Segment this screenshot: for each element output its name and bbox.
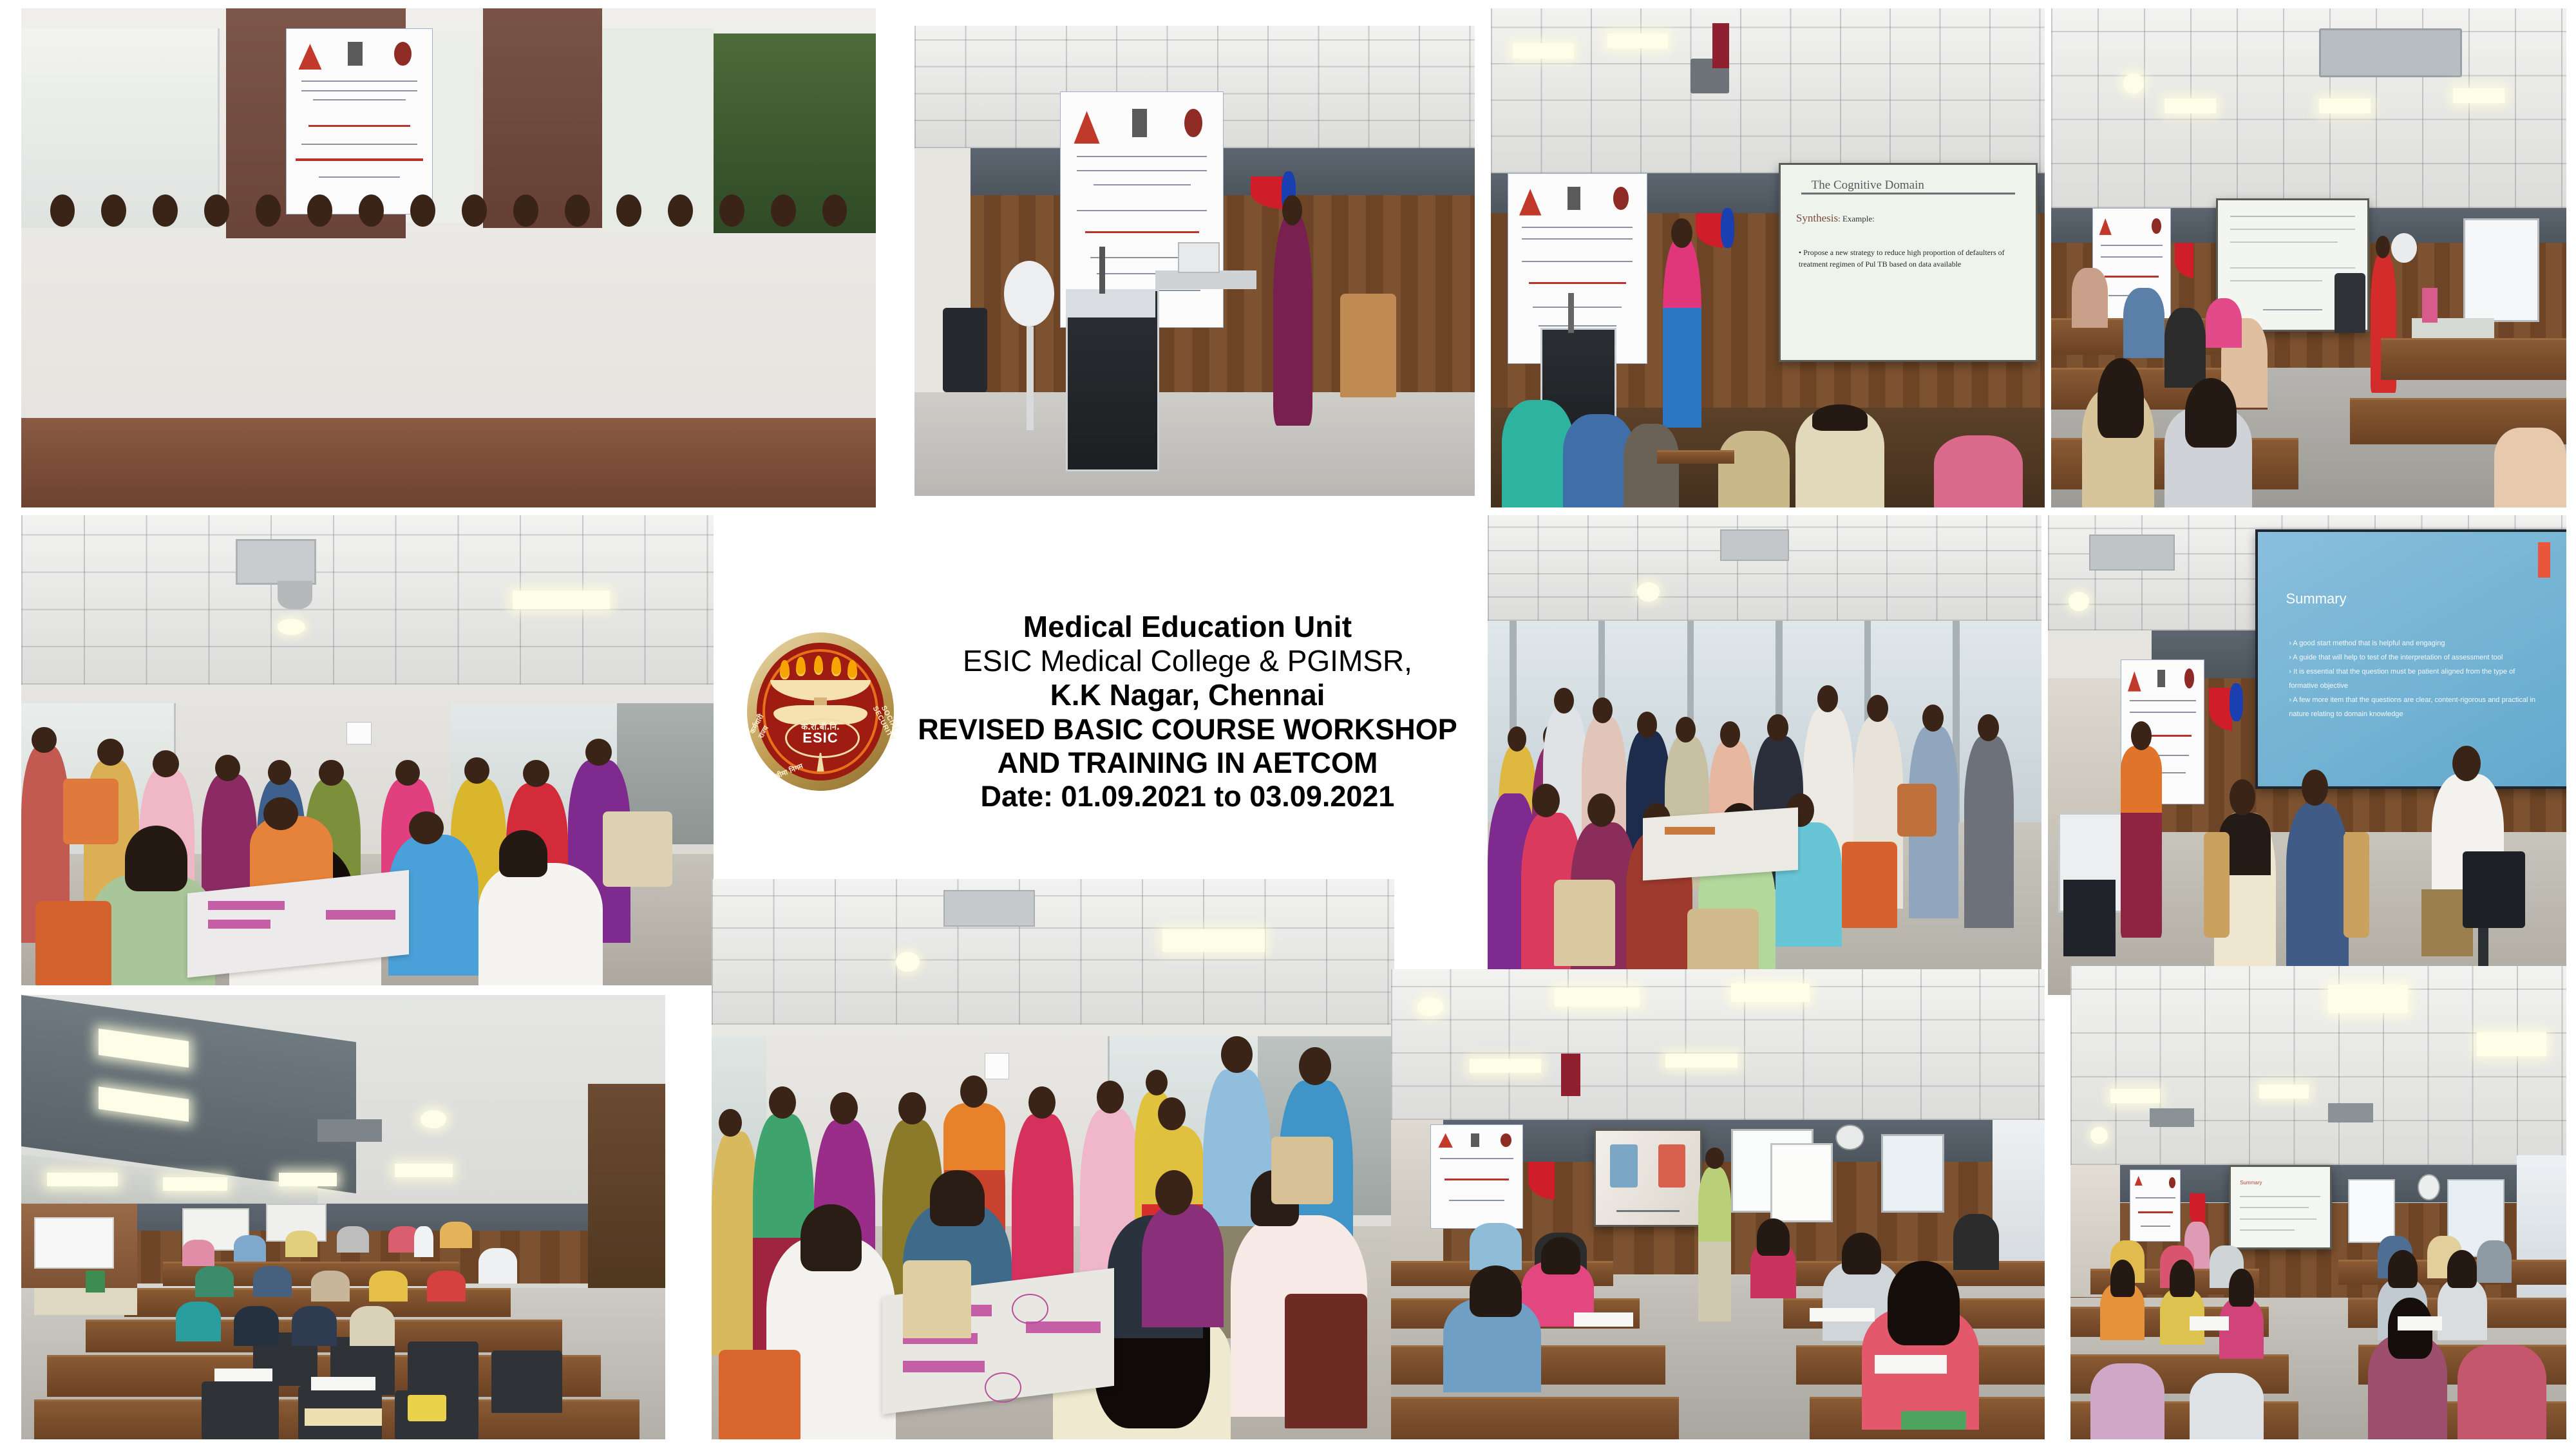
photo-group-photo-participants <box>21 8 876 507</box>
title-line-3: K.K Nagar, Chennai <box>894 678 1481 712</box>
scene <box>21 8 876 507</box>
workshop-banner <box>286 28 433 214</box>
photo-auditorium-session-rear-view: Summary <box>2070 966 2566 1439</box>
projection-screen: Summary › A good start method that is he… <box>2255 529 2566 789</box>
esic-logo: क.रा.बी.नि. ESIC कर्मचारी राज्य बीमा निग… <box>747 632 894 791</box>
title-line-2: ESIC Medical College & PGIMSR, <box>894 644 1481 678</box>
projection-screen: The Cognitive Domain Synthesis: Example:… <box>1779 163 2038 361</box>
photo-microteaching-session <box>1391 969 2045 1439</box>
photo-classroom-wide-view <box>2051 8 2566 507</box>
esic-emblem-icon: क.रा.बी.नि. ESIC कर्मचारी राज्य बीमा निग… <box>747 632 894 791</box>
center-title-panel: क.रा.बी.नि. ESIC कर्मचारी राज्य बीमा निग… <box>721 567 1481 857</box>
photo-summary-session-panel: Summary › A good start method that is he… <box>2048 515 2566 995</box>
photo-collage-poster: The Cognitive Domain Synthesis: Example:… <box>0 0 2576 1449</box>
photo-session-cognitive-domain: The Cognitive Domain Synthesis: Example:… <box>1491 8 2045 507</box>
title-line-1: Medical Education Unit <box>894 610 1481 644</box>
poster-title-block: Medical Education Unit ESIC Medical Coll… <box>894 610 1481 814</box>
photo-small-group-activity-flipchart <box>21 515 714 985</box>
photo-group-discussion-window-side <box>1488 515 2041 995</box>
photo-flipchart-group-presentation <box>712 879 1394 1439</box>
photo-podium-inauguration <box>914 26 1475 496</box>
title-line-4: REVISED BASIC COURSE WORKSHOP <box>894 713 1481 746</box>
title-line-6: Date: 01.09.2021 to 03.09.2021 <box>894 780 1481 813</box>
title-line-5: AND TRAINING IN AETCOM <box>894 746 1481 780</box>
photo-lecture-hall-tiered-seating <box>21 995 665 1439</box>
